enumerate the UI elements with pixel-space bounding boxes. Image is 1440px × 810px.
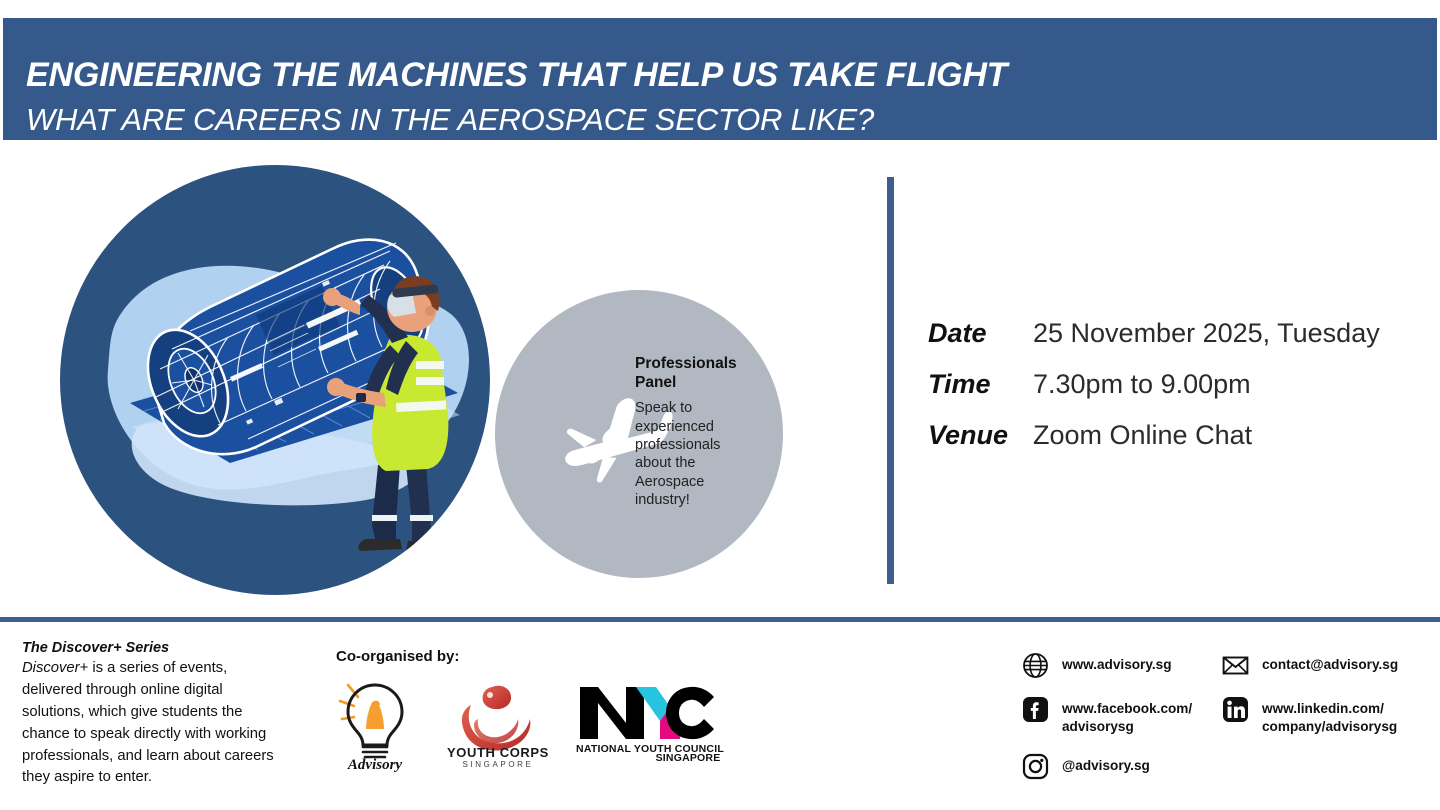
about-rest: is a series of events, delivered through… <box>22 660 274 785</box>
coorganised-label: Co-organised by: <box>336 648 459 665</box>
detail-label-time: Time <box>928 369 1033 400</box>
contact-text-email: contact@advisory.sg <box>1262 652 1398 674</box>
advisory-logo: Advisory <box>332 677 418 769</box>
contact-item-instagram[interactable]: @advisory.sg <box>1022 753 1222 780</box>
contact-text-linkedin: www.linkedin.com/ company/advisorysg <box>1262 696 1440 736</box>
professionals-panel-text: Professionals Panel Speak to experienced… <box>635 355 760 510</box>
linkedin-icon <box>1222 696 1249 723</box>
nyc-logo: NATIONAL YOUTH COUNCIL SINGAPORE <box>574 683 726 761</box>
contact-item-website[interactable]: www.advisory.sg <box>1022 652 1222 679</box>
youth-corps-logo: YOUTH CORPS SINGAPORE <box>440 679 556 767</box>
contact-text-website: www.advisory.sg <box>1062 652 1172 674</box>
header-banner: ENGINEERING THE MACHINES THAT HELP US TA… <box>3 18 1437 140</box>
detail-label-date: Date <box>928 318 1033 349</box>
about-series: The Discover+ Series Discover+ is a seri… <box>22 640 280 789</box>
event-poster: ENGINEERING THE MACHINES THAT HELP US TA… <box>0 0 1440 810</box>
contact-text-facebook: www.facebook.com/ advisorysg <box>1062 696 1222 736</box>
partner-logos: Advisory YOUTH CORPS SINGAPORE <box>330 675 730 775</box>
page-title: ENGINEERING THE MACHINES THAT HELP US TA… <box>26 58 1007 92</box>
footer-divider <box>0 617 1440 622</box>
envelope-icon <box>1222 652 1249 679</box>
globe-icon <box>1022 652 1049 679</box>
about-lead: Discover+ <box>22 660 88 676</box>
detail-row-venue: Venue Zoom Online Chat <box>928 420 1380 451</box>
engineer-scene-circle <box>60 165 490 595</box>
contact-item-facebook[interactable]: www.facebook.com/ advisorysg <box>1022 696 1222 736</box>
contact-item-linkedin[interactable]: www.linkedin.com/ company/advisorysg <box>1222 696 1440 736</box>
event-details: Date 25 November 2025, Tuesday Time 7.30… <box>928 318 1380 471</box>
detail-row-time: Time 7.30pm to 9.00pm <box>928 369 1380 400</box>
detail-row-date: Date 25 November 2025, Tuesday <box>928 318 1380 349</box>
detail-value-time: 7.30pm to 9.00pm <box>1033 369 1251 400</box>
advisory-wordmark: Advisory <box>347 757 403 773</box>
youth-corps-wordmark: YOUTH CORPS <box>447 745 549 760</box>
facebook-icon <box>1022 696 1049 723</box>
contact-text-instagram: @advisory.sg <box>1062 753 1150 775</box>
hero-illustration: Professionals Panel Speak to experienced… <box>60 165 800 595</box>
page-subtitle: WHAT ARE CAREERS IN THE AEROSPACE SECTOR… <box>26 104 874 135</box>
nyc-line2: SINGAPORE <box>656 752 721 764</box>
contact-column-right: contact@advisory.sg www.linkedin.com/ co… <box>1222 652 1440 753</box>
coorganised-label-wrap: Co-organised by: <box>336 648 459 665</box>
detail-value-venue: Zoom Online Chat <box>1033 420 1252 451</box>
details-accent-bar <box>887 177 894 584</box>
engineer-scene-icon <box>60 165 490 595</box>
about-body: Discover+ is a series of events, deliver… <box>22 658 280 789</box>
panel-title: Professionals Panel <box>635 355 760 392</box>
panel-body: Speak to experienced professionals about… <box>635 399 760 509</box>
instagram-icon <box>1022 753 1049 780</box>
detail-value-date: 25 November 2025, Tuesday <box>1033 318 1380 349</box>
about-title: The Discover+ Series <box>22 640 280 656</box>
detail-label-venue: Venue <box>928 420 1033 451</box>
youth-corps-subwordmark: SINGAPORE <box>463 760 534 769</box>
contact-column-left: www.advisory.sg www.facebook.com/ adviso… <box>1022 652 1222 797</box>
contact-item-email[interactable]: contact@advisory.sg <box>1222 652 1440 679</box>
